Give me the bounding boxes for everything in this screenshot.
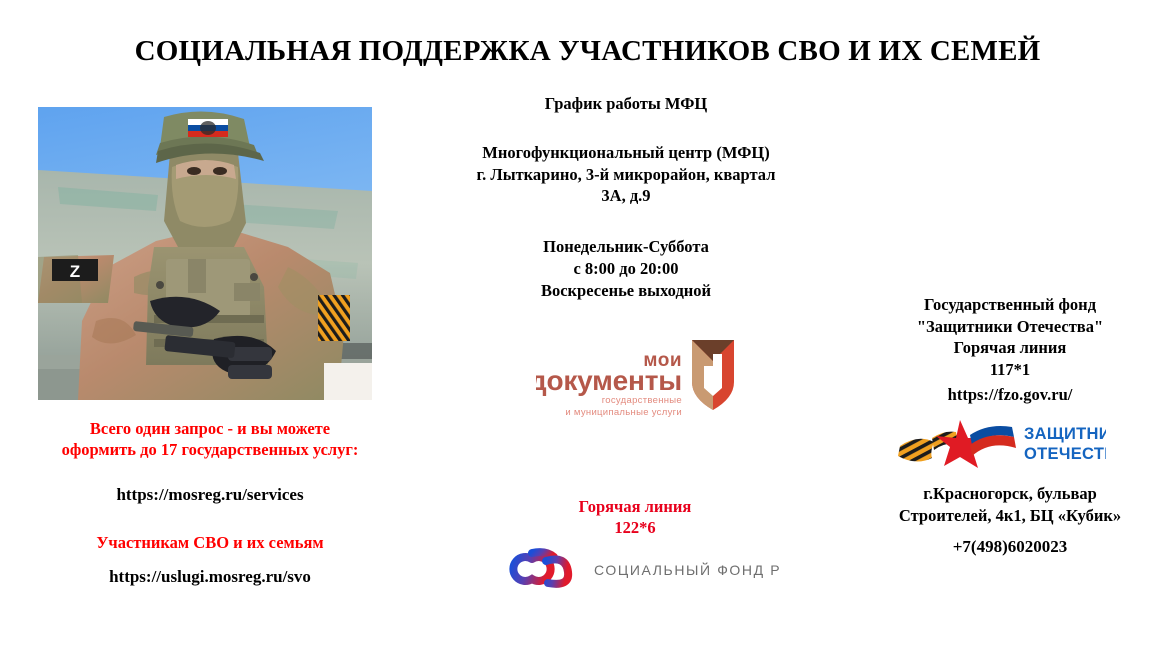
slide-canvas: СОЦИАЛЬНАЯ ПОДДЕРЖКА УЧАСТНИКОВ СВО И ИХ… xyxy=(0,0,1175,670)
services-lead: Всего один запрос - и вы можете оформить… xyxy=(10,418,410,460)
center-text-column: График работы МФЦ Многофункциональный це… xyxy=(430,93,822,302)
sfr-wordmark: СОЦИАЛЬНЫЙ ФОНД РОССИИ xyxy=(594,561,780,578)
defenders-of-the-fatherland-logo: ЗАЩИТНИКИ ОТЕЧЕСТВА xyxy=(898,412,1106,474)
left-text-column: Всего один запрос - и вы можете оформить… xyxy=(10,418,410,588)
mfc-hours-dayoff: Воскресенье выходной xyxy=(430,280,822,302)
fzo-word-line2: ОТЕЧЕСТВА xyxy=(1024,445,1106,463)
mfc-schedule-heading: График работы МФЦ xyxy=(430,93,822,114)
mfc-address-line3: 3А, д.9 xyxy=(430,185,822,207)
fzo-address-line1: г.Красногорск, бульвар xyxy=(845,483,1175,505)
fzo-word-line1: ЗАЩИТНИКИ xyxy=(1024,425,1106,443)
fzo-title-line2: "Защитники Отечества" xyxy=(845,316,1175,338)
mfc-word-documenty: документы xyxy=(536,365,682,396)
svo-participants-label: Участникам СВО и их семьям xyxy=(10,532,410,553)
fzo-phone: +7(498)6020023 xyxy=(845,536,1175,558)
mfc-my-documents-logo: мои документы государственные и муниципа… xyxy=(536,336,740,420)
link-uslugi-mosreg-svo[interactable]: https://uslugi.mosreg.ru/svo xyxy=(10,566,410,588)
mfc-shield-icon xyxy=(692,340,734,410)
sfr-monogram-icon xyxy=(513,552,568,589)
fzo-title-line1: Государственный фонд xyxy=(845,294,1175,316)
svg-text:Z: Z xyxy=(70,262,80,281)
link-fzo-gov-ru[interactable]: https://fzo.gov.ru/ xyxy=(845,384,1175,406)
fzo-hotline-label: Горячая линия xyxy=(845,337,1175,359)
sfr-hotline-label: Горячая линия xyxy=(480,496,790,517)
mfc-tagline-line1: государственные xyxy=(602,395,682,406)
services-lead-line2: оформить до 17 государственных услуг: xyxy=(10,439,410,460)
mfc-address-line1: Многофункциональный центр (МФЦ) xyxy=(430,142,822,164)
page-title: СОЦИАЛЬНАЯ ПОДДЕРЖКА УЧАСТНИКОВ СВО И ИХ… xyxy=(0,34,1175,68)
fzo-hotline-number: 117*1 xyxy=(845,359,1175,381)
mfc-address: Многофункциональный центр (МФЦ) г. Лытка… xyxy=(430,142,822,207)
fzo-fund-title: Государственный фонд "Защитники Отечеств… xyxy=(845,294,1175,380)
fzo-address-line2: Строителей, 4к1, БЦ «Кубик» xyxy=(845,505,1175,527)
russian-flag-ribbon-icon xyxy=(970,417,1016,456)
sfr-hotline-number: 122*6 xyxy=(480,517,790,538)
mfc-tagline-line2: и муниципальные услуги xyxy=(565,407,682,418)
link-mosreg-services[interactable]: https://mosreg.ru/services xyxy=(10,484,410,506)
mfc-hours: Понедельник-Суббота с 8:00 до 20:00 Воск… xyxy=(430,236,822,302)
soldier-photograph: Z xyxy=(38,107,372,400)
mfc-hours-days: Понедельник-Суббота xyxy=(430,236,822,258)
mfc-hours-time: с 8:00 до 20:00 xyxy=(430,258,822,280)
sfr-hotline: Горячая линия 122*6 xyxy=(480,496,790,538)
services-lead-line1: Всего один запрос - и вы можете xyxy=(10,418,410,439)
social-fund-of-russia-logo: СОЦИАЛЬНЫЙ ФОНД РОССИИ xyxy=(502,545,780,593)
mfc-address-line2: г. Лыткарино, 3-й микрорайон, квартал xyxy=(430,164,822,186)
right-text-column: Государственный фонд "Защитники Отечеств… xyxy=(845,294,1175,406)
fzo-address: г.Красногорск, бульвар Строителей, 4к1, … xyxy=(845,483,1175,526)
